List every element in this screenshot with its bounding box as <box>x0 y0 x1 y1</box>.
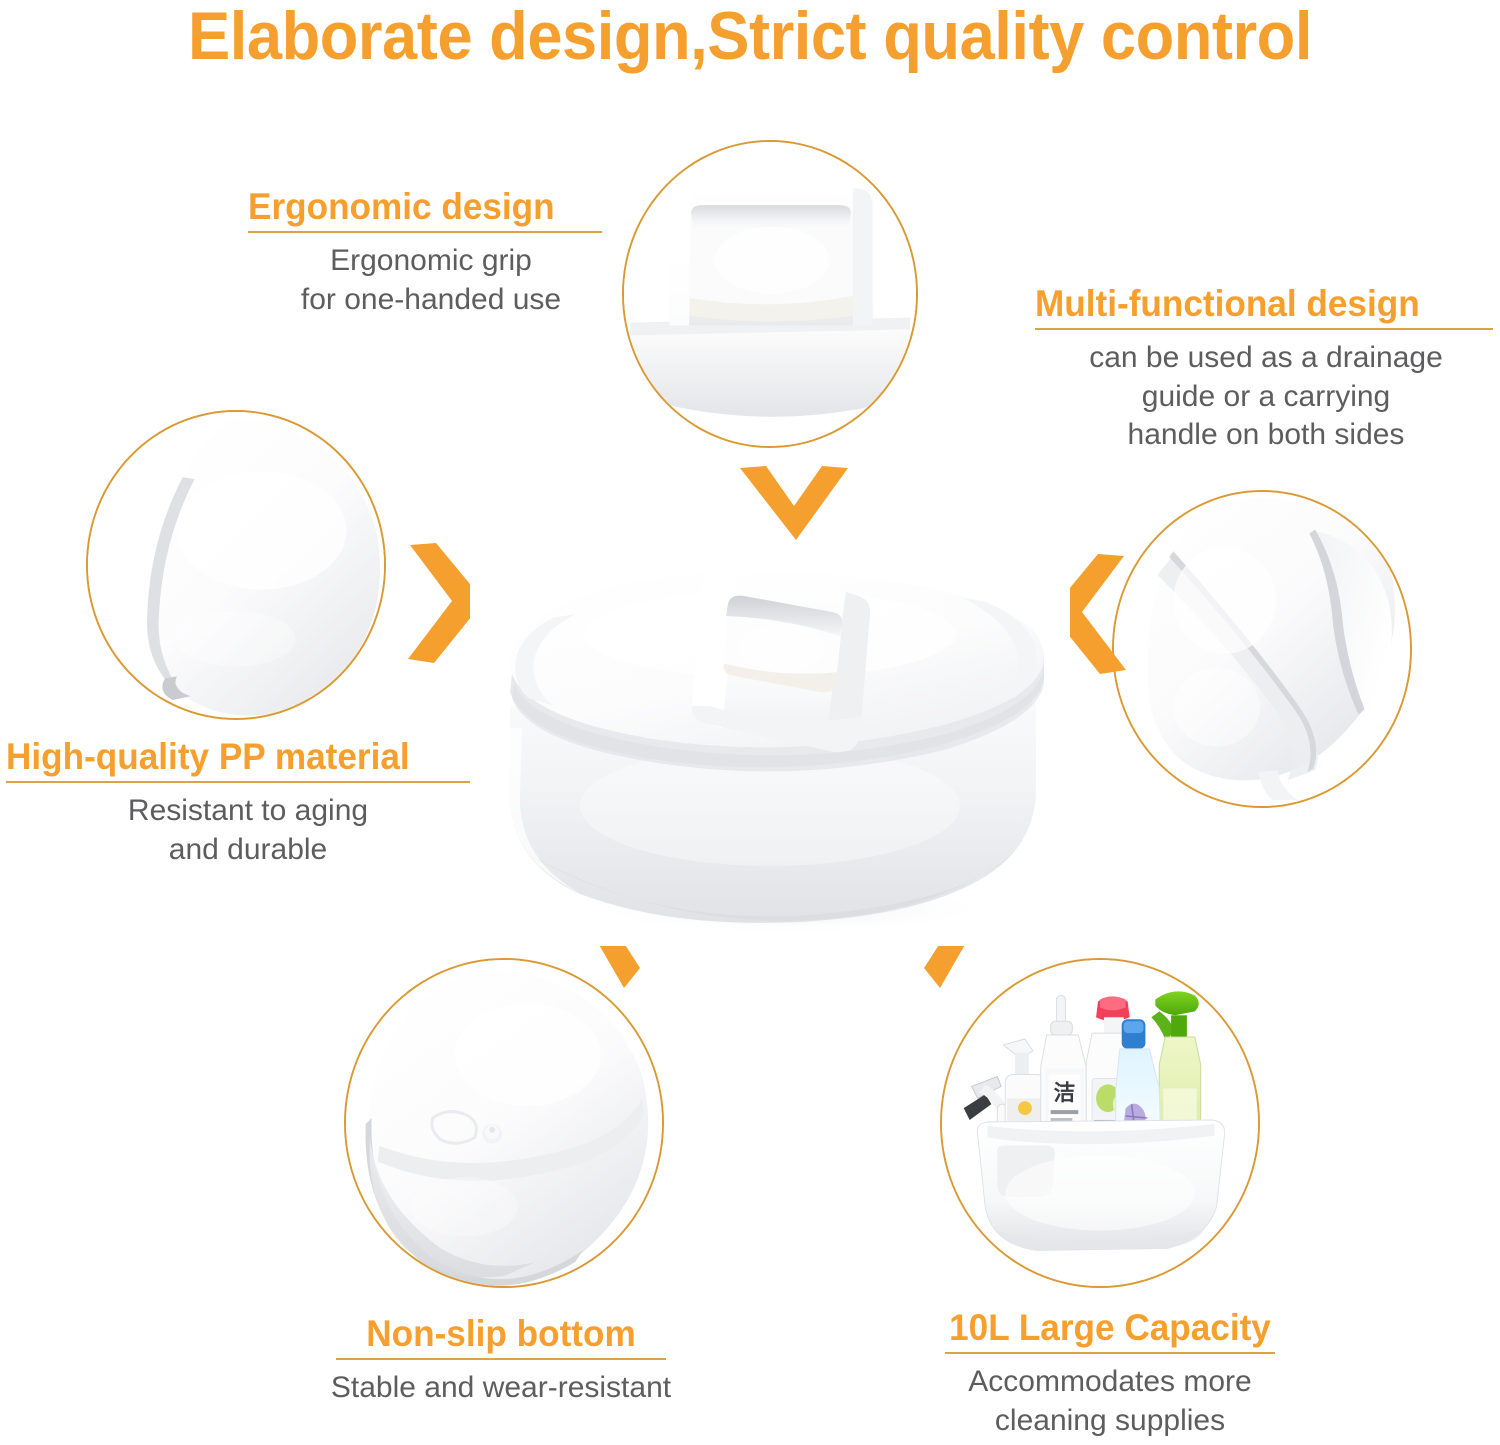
feature-block-high-quality-pp-material: High-quality PP material Resistant to ag… <box>6 736 490 869</box>
feature-body-line: for one-handed use <box>248 281 614 319</box>
feature-block-10l-large-capacity: 10L Large Capacity Accommodates more cle… <box>920 1307 1300 1440</box>
hero-product-image <box>470 556 1070 946</box>
feature-block-non-slip-bottom: Non-slip bottom Stable and wear-resistan… <box>310 1313 692 1408</box>
feature-heading-10l-large-capacity: 10L Large Capacity <box>930 1307 1291 1348</box>
page-title: Elaborate design,Strict quality control <box>53 2 1448 70</box>
feature-underline <box>336 1358 666 1360</box>
pp-surface-closeup-image <box>88 412 384 718</box>
feature-body-line: Resistant to aging <box>6 792 490 830</box>
feature-underline <box>6 781 488 783</box>
feature-body-line: cleaning supplies <box>920 1402 1300 1440</box>
feature-body-line: guide or a carrying <box>1035 378 1497 416</box>
feature-block-ergonomic-design: Ergonomic design Ergonomic grip for one-… <box>248 186 614 319</box>
feature-body-10l-large-capacity: Accommodates more cleaning supplies <box>920 1363 1300 1440</box>
feature-body-line: Stable and wear-resistant <box>310 1369 692 1407</box>
feature-heading-high-quality-pp-material: High-quality PP material <box>6 736 466 777</box>
feature-heading-non-slip-bottom: Non-slip bottom <box>320 1313 683 1354</box>
infographic-canvas: Elaborate design,Strict quality control … <box>0 0 1500 1445</box>
feature-body-line: can be used as a drainage <box>1035 339 1497 377</box>
arrow-top <box>736 462 852 544</box>
feature-body-line: Accommodates more <box>920 1363 1300 1401</box>
feature-block-multi-functional-design: Multi-functional design can be used as a… <box>1035 283 1497 455</box>
caddy-filled-with-supplies-image: 洁 <box>942 960 1258 1286</box>
photo-ellipse-caddy-filled-with-supplies: 洁 <box>940 958 1260 1288</box>
feature-underline <box>248 231 602 233</box>
feature-body-line: handle on both sides <box>1035 416 1497 454</box>
feature-heading-ergonomic-design: Ergonomic design <box>248 186 596 227</box>
photo-ellipse-pp-surface-closeup <box>86 410 386 720</box>
feature-underline <box>945 1352 1275 1354</box>
svg-text:洁: 洁 <box>1054 1080 1076 1105</box>
feature-body-line: and durable <box>6 831 490 869</box>
feature-body-non-slip-bottom: Stable and wear-resistant <box>310 1369 692 1407</box>
feature-body-ergonomic-design: Ergonomic grip for one-handed use <box>248 242 614 319</box>
feature-underline <box>1035 328 1493 330</box>
photo-ellipse-drainage-spout-closeup <box>1112 490 1412 808</box>
feature-body-multi-functional-design: can be used as a drainage guide or a car… <box>1035 339 1497 454</box>
photo-ellipse-handle-closeup <box>622 140 918 448</box>
photo-ellipse-base-closeup <box>344 958 664 1288</box>
handle-closeup-image <box>624 142 916 446</box>
feature-body-line: Ergonomic grip <box>248 242 614 280</box>
base-closeup-image <box>346 960 662 1286</box>
drainage-spout-closeup-image <box>1114 492 1410 806</box>
feature-heading-multi-functional-design: Multi-functional design <box>1035 283 1474 324</box>
feature-body-high-quality-pp-material: Resistant to aging and durable <box>6 792 490 869</box>
